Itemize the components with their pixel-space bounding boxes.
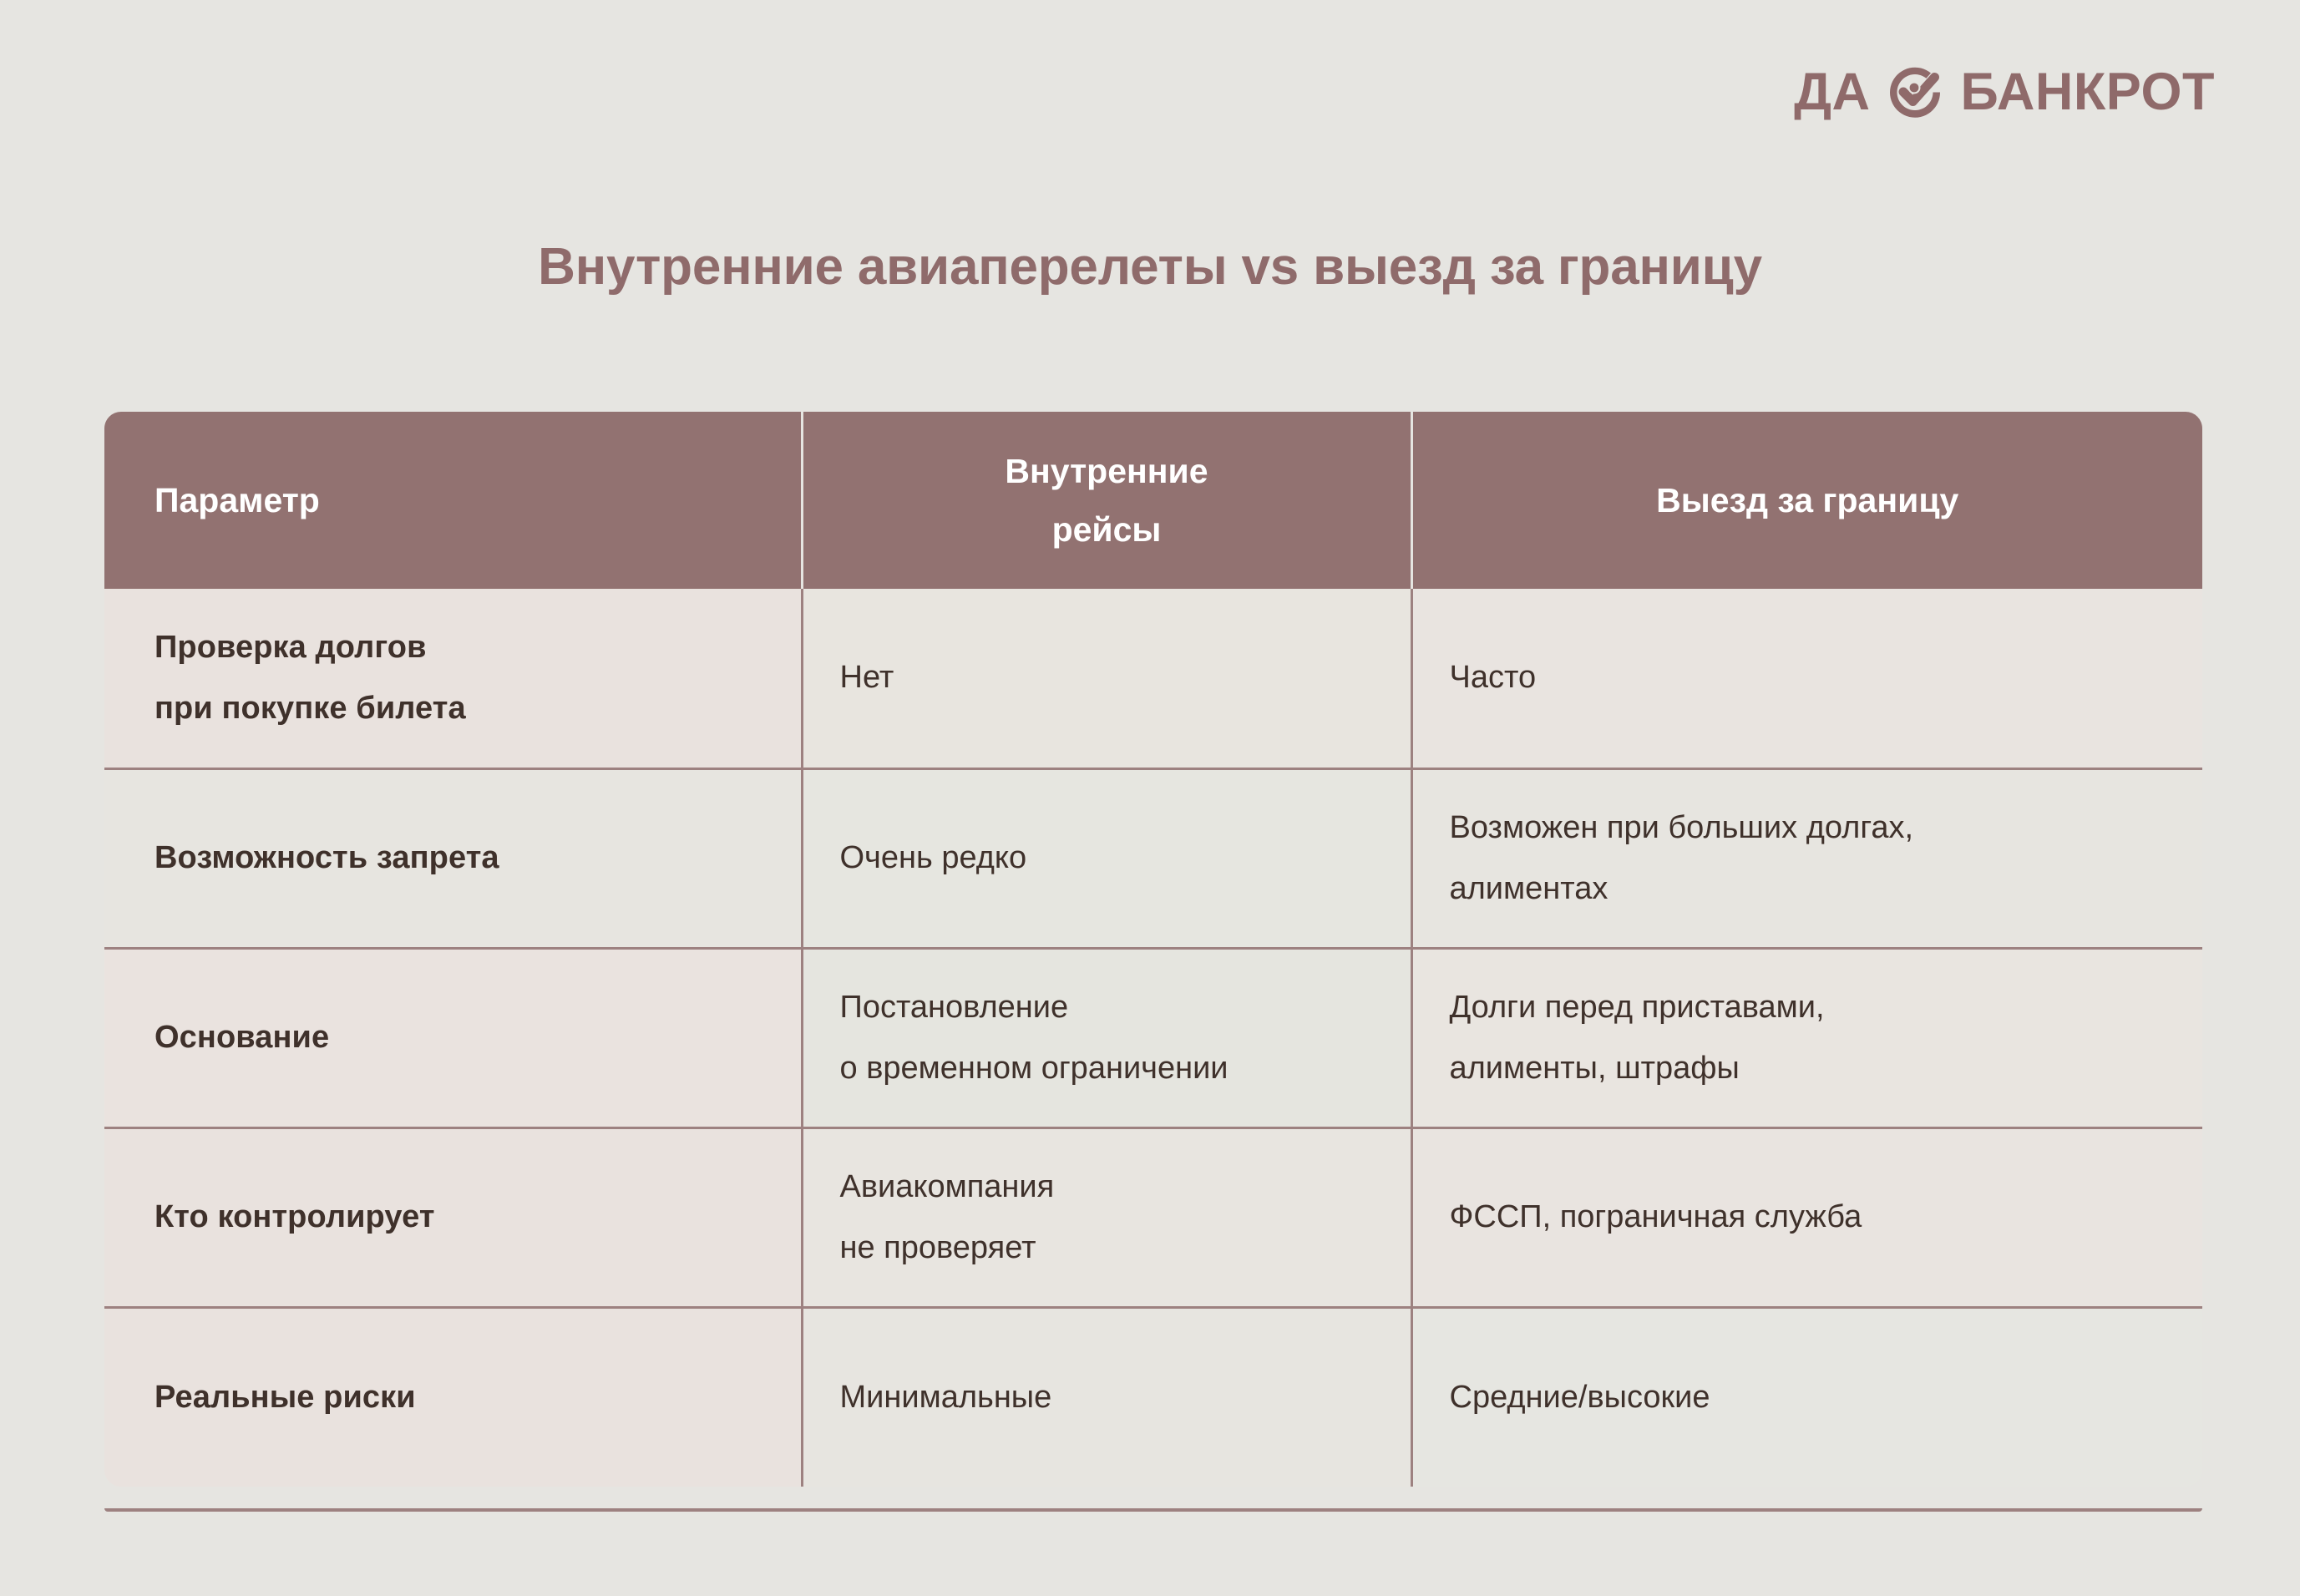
brand-word-da: ДА	[1794, 66, 1870, 119]
cell-abroad-line1: ФССП, пограничная служба	[1450, 1193, 2170, 1241]
column-header-parameter: Параметр	[104, 412, 802, 589]
column-header-domestic-line2: рейсы	[837, 507, 1377, 552]
table-row: Кто контролирует Авиакомпания не проверя…	[104, 1127, 2202, 1307]
table-header: Параметр Внутренние рейсы Выезд за грани…	[104, 412, 2202, 589]
cell-domestic: Нет	[802, 589, 1411, 768]
cell-abroad-line1: Долги перед приставами,	[1450, 984, 2170, 1031]
cell-abroad: ФССП, пограничная служба	[1411, 1127, 2202, 1307]
column-header-domestic-line1: Внутренние	[837, 448, 1377, 494]
cell-parameter-line1: Проверка долгов	[155, 624, 768, 671]
table-row: Основание Постановление о временном огра…	[104, 948, 2202, 1127]
brand-word-bankrot: БАНКРОТ	[1960, 66, 2215, 119]
cell-domestic: Авиакомпания не проверяет	[802, 1127, 1411, 1307]
table-row: Проверка долгов при покупке билета Нет Ч…	[104, 589, 2202, 768]
cell-domestic-line2: о временном ограничении	[840, 1045, 1377, 1092]
cell-parameter-line2: при покупке билета	[155, 685, 768, 732]
cell-abroad-line2: алименты, штрафы	[1450, 1045, 2170, 1092]
cell-abroad-line1: Часто	[1450, 654, 2170, 702]
table-row: Возможность запрета Очень редко Возможен…	[104, 768, 2202, 948]
comparison-table: Параметр Внутренние рейсы Выезд за грани…	[104, 412, 2202, 1487]
cell-parameter: Проверка долгов при покупке билета	[104, 589, 802, 768]
cell-domestic-line1: Минимальные	[840, 1374, 1377, 1421]
cell-domestic-line1: Очень редко	[840, 834, 1377, 882]
column-header-abroad: Выезд за границу	[1411, 412, 2202, 589]
cell-parameter-line1: Основание	[155, 1014, 768, 1061]
cell-domestic-line2: не проверяет	[840, 1224, 1377, 1272]
cell-domestic-line1: Постановление	[840, 984, 1377, 1031]
cell-domestic-line1: Авиакомпания	[840, 1163, 1377, 1211]
cell-abroad: Часто	[1411, 589, 2202, 768]
cell-parameter: Возможность запрета	[104, 768, 802, 948]
cell-parameter-line1: Возможность запрета	[155, 834, 768, 882]
cell-domestic: Постановление о временном ограничении	[802, 948, 1411, 1127]
page-title: Внутренние авиаперелеты vs выезд за гран…	[0, 237, 2300, 296]
cell-parameter-line1: Реальные риски	[155, 1374, 768, 1421]
table-bottom-rule	[104, 1508, 2202, 1512]
cell-domestic-line1: Нет	[840, 654, 1377, 702]
cell-domestic: Минимальные	[802, 1307, 1411, 1487]
cell-parameter: Основание	[104, 948, 802, 1127]
cell-abroad: Возможен при больших долгах, алиментах	[1411, 768, 2202, 948]
cell-domestic: Очень редко	[802, 768, 1411, 948]
cell-parameter-line1: Кто контролирует	[155, 1193, 768, 1241]
column-header-domestic: Внутренние рейсы	[802, 412, 1411, 589]
table-body: Проверка долгов при покупке билета Нет Ч…	[104, 589, 2202, 1487]
circle-check-icon	[1885, 62, 1945, 122]
cell-abroad: Средние/высокие	[1411, 1307, 2202, 1487]
cell-parameter: Кто контролирует	[104, 1127, 802, 1307]
table-header-row: Параметр Внутренние рейсы Выезд за грани…	[104, 412, 2202, 589]
cell-abroad-line1: Возможен при больших долгах,	[1450, 804, 2170, 852]
table-row: Реальные риски Минимальные Средние/высок…	[104, 1307, 2202, 1487]
cell-abroad-line2: алиментах	[1450, 865, 2170, 913]
cell-parameter: Реальные риски	[104, 1307, 802, 1487]
cell-abroad-line1: Средние/высокие	[1450, 1374, 2170, 1421]
brand-logo[interactable]: ДА БАНКРОТ	[1794, 62, 2215, 122]
cell-abroad: Долги перед приставами, алименты, штрафы	[1411, 948, 2202, 1127]
